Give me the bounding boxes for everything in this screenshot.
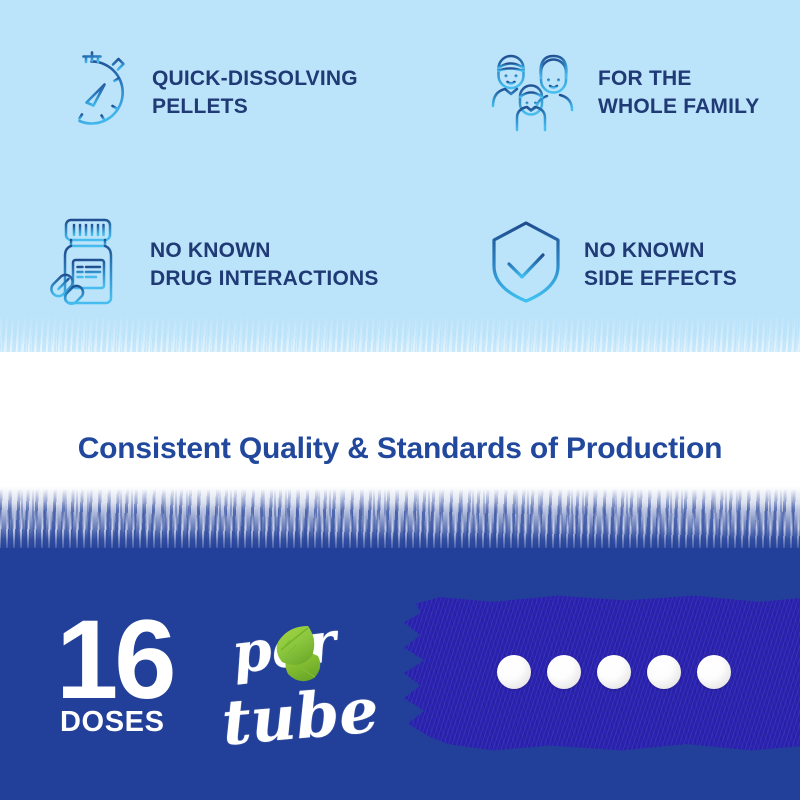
pellet <box>547 655 581 689</box>
pellet <box>497 655 531 689</box>
pellet <box>697 655 731 689</box>
pellet <box>647 655 681 689</box>
mint-leaf-icon <box>258 620 328 691</box>
dose-count-block: 16 DOSES per tube <box>56 608 386 748</box>
dose-word: DOSES <box>60 708 165 737</box>
pellet <box>597 655 631 689</box>
dose-number: 16 <box>56 604 173 716</box>
promo-infographic: QUICK-DISSOLVING PELLETS <box>0 0 800 800</box>
